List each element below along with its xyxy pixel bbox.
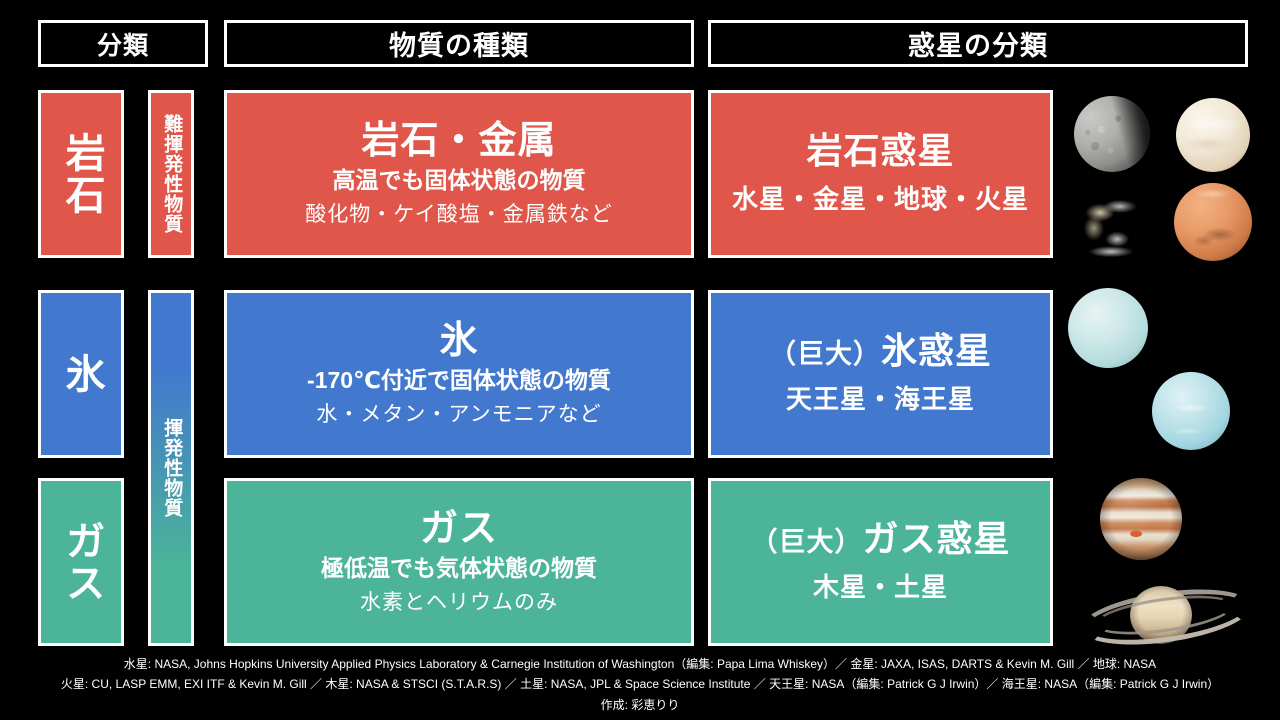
credit-line-author: 作成: 彩恵りり xyxy=(0,696,1280,715)
credit-line-1: 水星: NASA, Johns Hopkins University Appli… xyxy=(0,655,1280,674)
header-material-type-label: 物質の種類 xyxy=(389,24,529,63)
planet-group-card-gas: （巨大）ガス惑星 木星・土星 xyxy=(708,478,1053,646)
category-chip-ice: 氷 xyxy=(38,290,124,458)
planet-group-gas-prefix: （巨大） xyxy=(750,527,862,557)
material-card-rock-examples: 酸化物・ケイ酸塩・金属鉄など xyxy=(305,203,613,226)
material-card-gas: ガス 極低温でも気体状態の物質 水素とヘリウムのみ xyxy=(224,478,694,646)
category-chip-ice-label: 氷 xyxy=(59,353,102,395)
planet-group-ice-prefix: （巨大） xyxy=(769,339,881,369)
planet-group-card-rocky: 岩石惑星 水星・金星・地球・火星 xyxy=(708,90,1053,258)
infographic-canvas: 分類 物質の種類 惑星の分類 岩石 氷 ガス 難揮発性物質 揮発性物質 岩石・金… xyxy=(0,0,1280,720)
category-chip-gas-label: ガス xyxy=(59,520,102,604)
material-card-rock-title: 岩石・金属 xyxy=(361,122,556,162)
planet-group-ice-members: 天王星・海王星 xyxy=(786,379,975,416)
uranus-planet-image xyxy=(1068,288,1148,368)
material-card-gas-title: ガス xyxy=(420,510,498,550)
material-card-ice-subtitle: -170℃付近で固体状態の物質 xyxy=(307,368,611,393)
planet-group-ice-title: （巨大）氷惑星 xyxy=(769,332,992,370)
saturn-planet-image xyxy=(1072,572,1250,648)
volatility-band-volatile-label: 揮発性物質 xyxy=(161,418,182,518)
material-card-ice-title: 氷 xyxy=(439,322,478,362)
volatility-band-refractory: 難揮発性物質 xyxy=(148,90,194,258)
category-chip-gas: ガス xyxy=(38,478,124,646)
category-chip-rock: 岩石 xyxy=(38,90,124,258)
volatility-band-refractory-label: 難揮発性物質 xyxy=(161,114,182,234)
mars-planet-image xyxy=(1174,183,1252,261)
venus-planet-image xyxy=(1176,98,1250,172)
header-planet-classification: 惑星の分類 xyxy=(708,20,1248,67)
mercury-planet-image xyxy=(1074,96,1150,172)
category-chip-rock-label: 岩石 xyxy=(59,132,102,216)
material-card-ice-examples: 水・メタン・アンモニアなど xyxy=(316,403,601,426)
credit-line-2: 火星: CU, LASP EMM, EXI ITF & Kevin M. Gil… xyxy=(0,675,1280,694)
header-material-type: 物質の種類 xyxy=(224,20,694,67)
planet-group-card-ice: （巨大）氷惑星 天王星・海王星 xyxy=(708,290,1053,458)
planet-group-rocky-members: 水星・金星・地球・火星 xyxy=(732,179,1029,216)
material-card-gas-subtitle: 極低温でも気体状態の物質 xyxy=(321,556,597,581)
neptune-planet-image xyxy=(1152,372,1230,450)
planet-group-rocky-title-text: 岩石惑星 xyxy=(806,130,954,171)
jupiter-planet-image xyxy=(1100,478,1182,560)
earth-planet-image xyxy=(1072,183,1150,261)
material-card-rock: 岩石・金属 高温でも固体状態の物質 酸化物・ケイ酸塩・金属鉄など xyxy=(224,90,694,258)
header-planet-classification-label: 惑星の分類 xyxy=(908,24,1048,63)
planet-group-gas-title: （巨大）ガス惑星 xyxy=(750,520,1010,558)
header-classification: 分類 xyxy=(38,20,208,67)
planet-group-rocky-title: 岩石惑星 xyxy=(806,132,954,170)
material-card-rock-subtitle: 高温でも固体状態の物質 xyxy=(333,168,586,193)
planet-group-ice-title-text: 氷惑星 xyxy=(881,330,992,371)
planet-group-gas-title-text: ガス惑星 xyxy=(862,518,1010,559)
material-card-ice: 氷 -170℃付近で固体状態の物質 水・メタン・アンモニアなど xyxy=(224,290,694,458)
material-card-gas-examples: 水素とヘリウムのみ xyxy=(360,591,558,614)
volatility-band-volatile: 揮発性物質 xyxy=(148,290,194,646)
header-classification-label: 分類 xyxy=(97,26,149,62)
planet-group-gas-members: 木星・土星 xyxy=(813,567,948,604)
